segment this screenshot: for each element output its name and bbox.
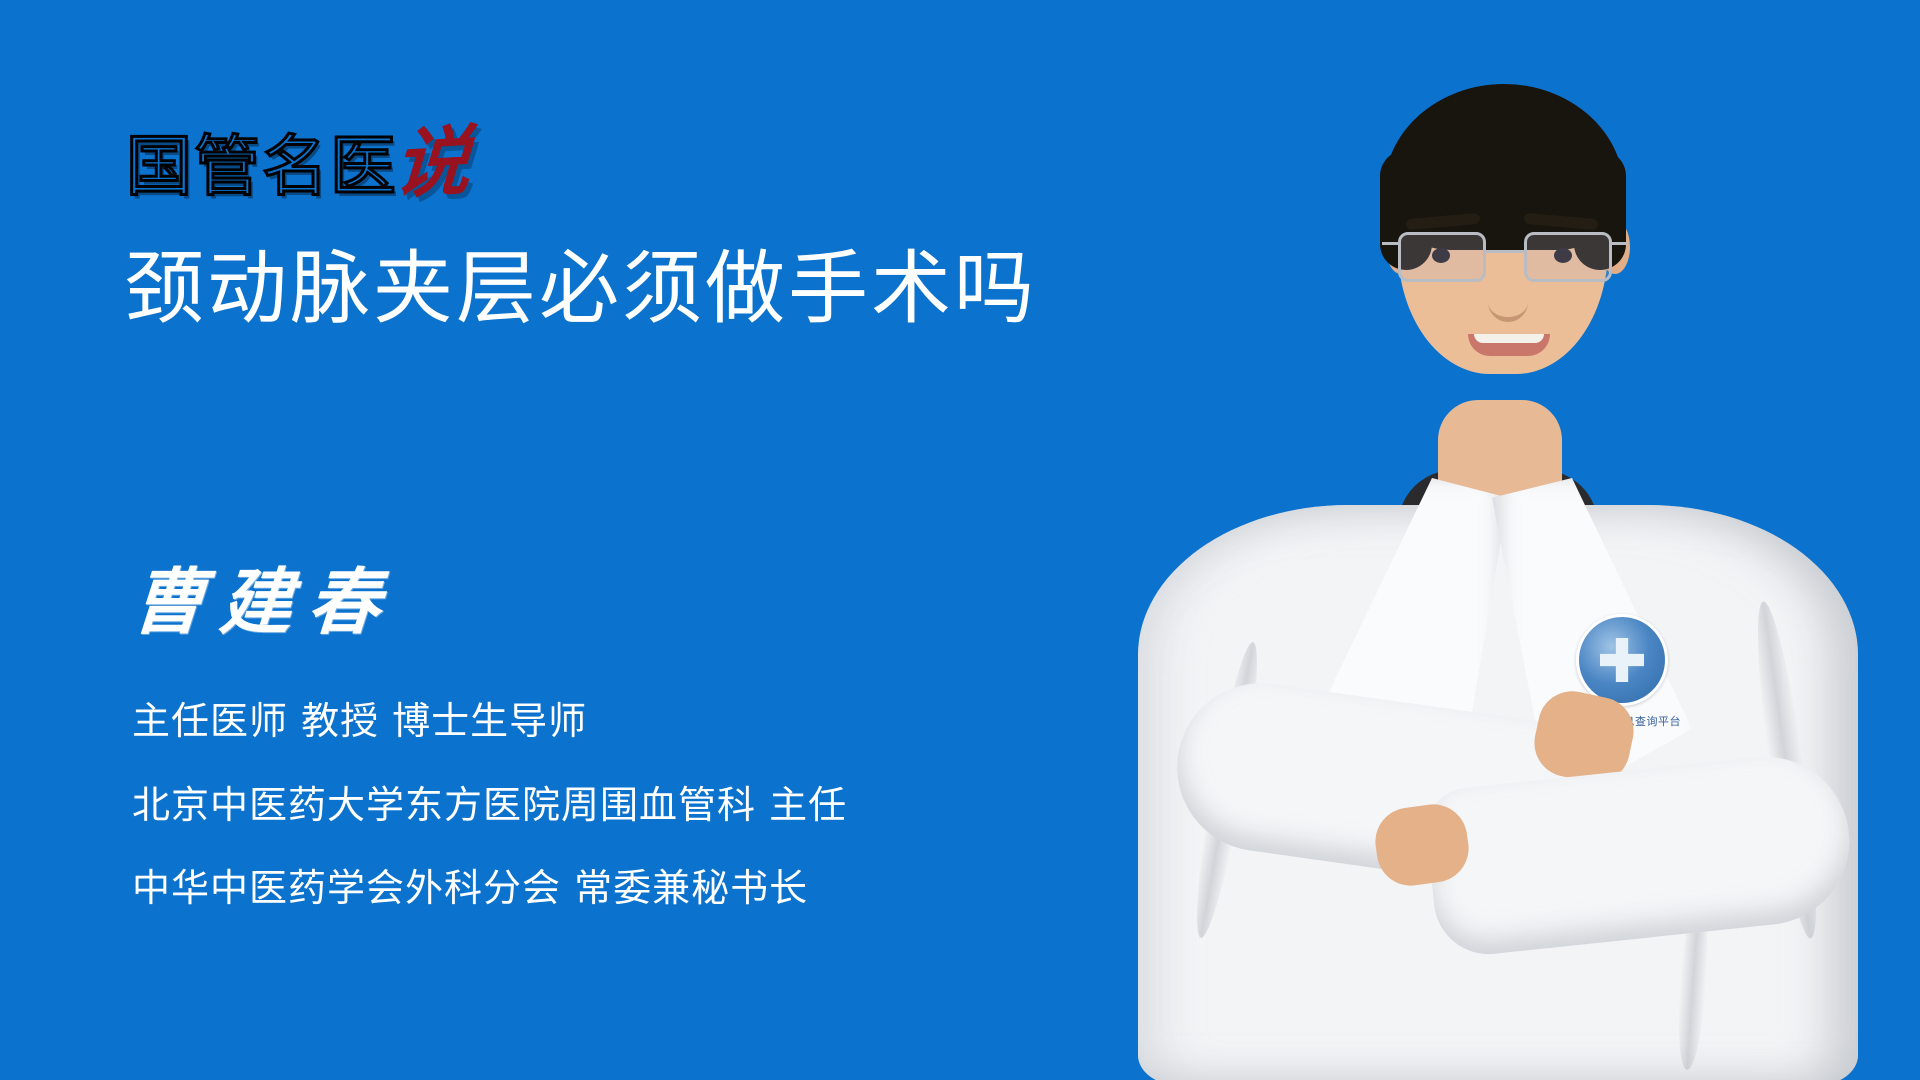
doctor-credentials: 主任医师 教授 博士生导师 北京中医药大学东方医院周围血管科 主任 中华中医药学…: [132, 700, 847, 911]
badge-emblem-icon: [1576, 614, 1668, 706]
credential-line-3: 中华中医药学会外科分会 常委兼秘书长: [132, 867, 847, 911]
credential-line-2: 北京中医药大学东方医院周围血管科 主任: [132, 784, 847, 828]
page-title: 颈动脉夹层必须做手术吗: [124, 246, 1184, 332]
brand-logo: 国管名医 说: [126, 104, 468, 200]
glasses-lens-right: [1524, 232, 1612, 282]
glasses-temple-right: [1612, 242, 1628, 245]
nose: [1488, 276, 1528, 322]
doctor-name: 曹建春: [129, 566, 398, 638]
teeth: [1474, 334, 1544, 343]
glasses-lens-left: [1398, 232, 1486, 282]
glasses-bridge: [1486, 250, 1526, 253]
glasses-temple-left: [1382, 242, 1398, 245]
doctor-portrait: 中国医师信息查询平台: [1080, 0, 1920, 1080]
credential-line-1: 主任医师 教授 博士生导师: [132, 700, 847, 744]
brand-logo-accent-text: 说: [392, 126, 472, 200]
promo-card: 国管名医 说 颈动脉夹层必须做手术吗 曹建春 主任医师 教授 博士生导师 北京中…: [0, 0, 1920, 1080]
brand-logo-main-text: 国管名医: [126, 134, 398, 200]
